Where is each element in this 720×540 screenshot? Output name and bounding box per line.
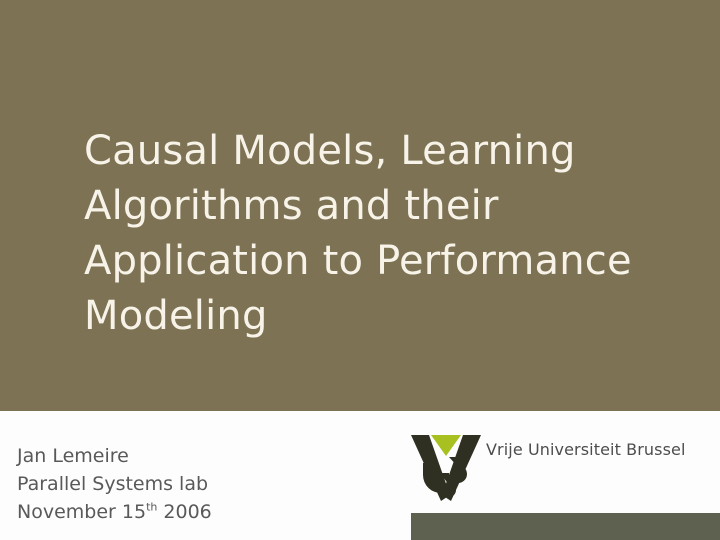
logo-wordmark: Vrije Universiteit Brussel <box>486 440 686 459</box>
title-line-1: Causal Models, Learning <box>84 124 708 179</box>
presentation-slide: Causal Models, Learning Algorithms and t… <box>0 0 720 540</box>
title-line-2: Algorithms and their <box>84 179 708 234</box>
university-logo: Vrije Universiteit Brussel <box>409 429 709 503</box>
date-month-day: November 15 <box>17 501 146 523</box>
author-affiliation: Parallel Systems lab <box>17 470 347 498</box>
date-ordinal-suffix: th <box>146 501 157 514</box>
bottom-accent-bar <box>411 513 720 540</box>
title-line-3: Application to Performance <box>84 234 708 289</box>
author-block: Jan Lemeire Parallel Systems lab Novembe… <box>17 442 347 526</box>
presentation-date: November 15th 2006 <box>17 498 347 526</box>
title-banner: Causal Models, Learning Algorithms and t… <box>0 0 720 411</box>
title-line-4: Modeling <box>84 289 708 344</box>
vub-logo-icon <box>409 429 483 503</box>
slide-title: Causal Models, Learning Algorithms and t… <box>84 124 708 344</box>
author-name: Jan Lemeire <box>17 442 347 470</box>
date-year: 2006 <box>163 501 211 523</box>
